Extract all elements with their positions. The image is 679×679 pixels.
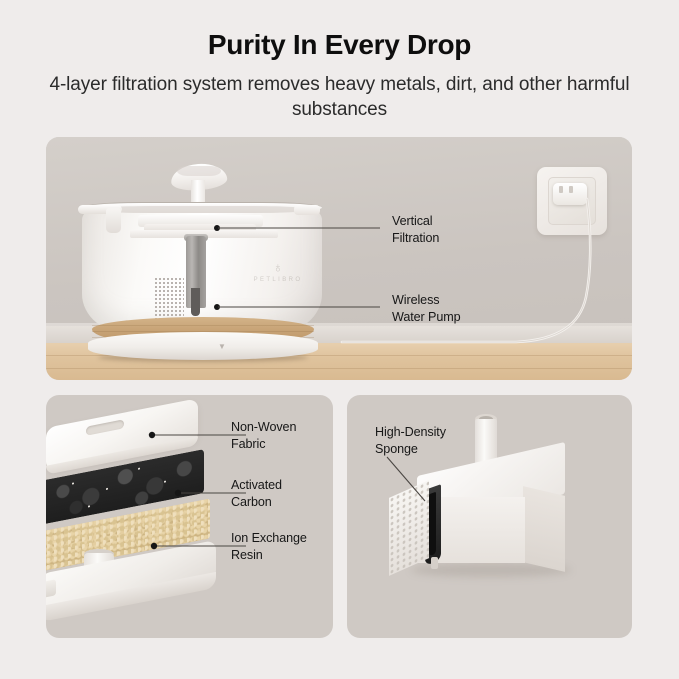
callout-activated-carbon: Activated Carbon (231, 477, 282, 511)
page-subtitle: 4-layer filtration system removes heavy … (0, 72, 679, 123)
base-logo-icon: ▼ (218, 342, 226, 351)
wall-outlet (537, 167, 611, 239)
plug-prong (569, 186, 573, 193)
callout-dot-wireless-water-pump (214, 304, 220, 310)
callout-ion-exchange-resin: Ion Exchange Resin (231, 530, 307, 564)
filter-tube-tip (191, 288, 200, 316)
plug-prong (559, 186, 563, 193)
exploded-filter-stack (46, 407, 234, 622)
page-title: Purity In Every Drop (0, 30, 679, 61)
callout-dot-vertical-filtration (214, 225, 220, 231)
base-pedestal (88, 332, 318, 360)
brand-mark-icon: ♁ (244, 260, 312, 274)
high-density-sponge-module (405, 445, 590, 605)
sponge-insert-core (429, 492, 436, 557)
spout-lip (177, 166, 221, 176)
filter-base-tray (46, 557, 216, 619)
callout-wireless-water-pump: Wireless Water Pump (392, 292, 461, 326)
callout-vertical-filtration: Vertical Filtration (392, 213, 439, 247)
sponge-housing-side (523, 486, 565, 572)
bowl-rim-inner (96, 206, 308, 213)
handle-tab (106, 208, 121, 233)
filter-layers-scene-panel: Non-Woven Fabric Activated Carbon Ion Ex… (46, 395, 333, 638)
floor-seam (46, 368, 632, 369)
callout-high-density-sponge: High-Density Sponge (375, 424, 446, 458)
pet-water-fountain: ♁ PETLIBRO ▼ (78, 162, 328, 362)
sponge-scene-panel: High-Density Sponge (347, 395, 632, 638)
brand-logo: ♁ PETLIBRO (244, 260, 312, 283)
header: Purity In Every Drop 4-layer filtration … (0, 0, 679, 122)
sponge-housing-slot (431, 557, 438, 569)
water-fountain-scene-panel: ♁ PETLIBRO ▼ Vertical Filtration Wireles… (46, 137, 632, 380)
pump-grille (154, 277, 184, 322)
callout-non-woven-fabric: Non-Woven Fabric (231, 419, 296, 453)
brand-wordmark: PETLIBRO (244, 277, 312, 283)
rim-tab (294, 205, 320, 215)
